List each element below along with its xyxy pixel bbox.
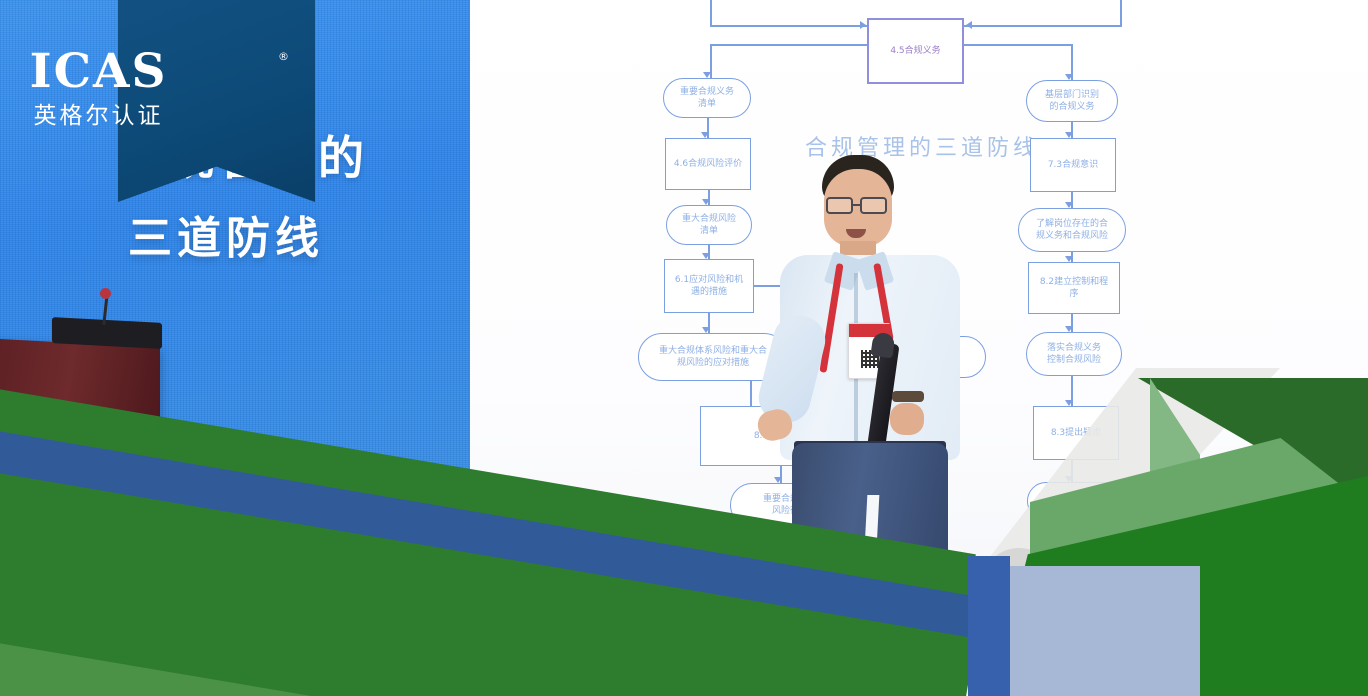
glasses-bridge-icon [853, 204, 860, 206]
flow-node-n_r4: 8.2建立控制和程 序 [1028, 262, 1120, 314]
flow-node-n_45: 4.5合规义务 [867, 18, 964, 84]
flow-node-label: 了解岗位存在的合 规义务和合规风险 [1036, 218, 1108, 242]
overlay-rect-blue-dark [968, 556, 1010, 696]
flow-node-n_l4: 6.1应对风险和机 遇的措施 [664, 259, 754, 313]
flow-node-label: 4.5合规义务 [890, 45, 940, 57]
speaker-right-hand [890, 403, 924, 435]
overlay-rect-blue-pale [1010, 566, 1200, 696]
flow-node-label: 6.1应对风险和机 遇的措施 [675, 274, 743, 298]
flow-node-label: 重大合规风险 清单 [682, 213, 736, 237]
flow-node-n_l2: 4.6合规风险评价 [665, 138, 751, 190]
flow-node-label: 重大合规体系风险和重大合 规风险的应对措施 [659, 345, 767, 369]
flow-node-n_r1: 基层部门识别 的合规义务 [1026, 80, 1118, 122]
flow-node-n_l1: 重要合规义务 清单 [663, 78, 751, 118]
icas-chinese-name: 英格尔认证 [0, 96, 197, 130]
wristwatch-icon [892, 391, 924, 402]
flow-connector [964, 44, 1072, 46]
flow-node-n_r3: 了解岗位存在的合 规义务和合规风险 [1018, 208, 1126, 252]
flow-connector [710, 44, 868, 46]
flow-node-label: 4.6合规风险评价 [674, 158, 742, 170]
flow-node-label: 重要合规义务 清单 [680, 86, 734, 110]
icas-wordmark: ICAS [0, 44, 197, 99]
flow-connector [710, 0, 712, 26]
flow-node-n_l3: 重大合规风险 清单 [666, 205, 752, 245]
screenshot-stage: 合规管理的 三道防线 ICAS ® 英格尔认证 合规管理的三道防线 [0, 0, 1368, 696]
glasses-left-lens-icon [826, 197, 853, 214]
screen-title-line-2: 三道防线 [128, 208, 428, 270]
glasses-right-lens-icon [860, 197, 887, 214]
flow-node-label: 落实合规义务 控制合规风险 [1047, 342, 1101, 366]
flow-connector [964, 25, 1122, 27]
registered-trademark-icon: ® [278, 50, 289, 63]
flow-connector [750, 381, 752, 406]
flow-node-label: 基层部门识别 的合规义务 [1045, 89, 1099, 113]
flow-arrow-icon [860, 21, 866, 29]
microphone-head-icon [100, 288, 111, 299]
flow-arrow-icon [966, 21, 972, 29]
flow-connector [1120, 0, 1122, 26]
flow-node-n_r2: 7.3合规意识 [1030, 138, 1116, 192]
flow-connector [710, 25, 868, 27]
flow-node-label: 7.3合规意识 [1048, 159, 1098, 171]
flow-node-label: 8.2建立控制和程 序 [1040, 276, 1108, 300]
flow-node-n_r5: 落实合规义务 控制合规风险 [1026, 332, 1122, 376]
